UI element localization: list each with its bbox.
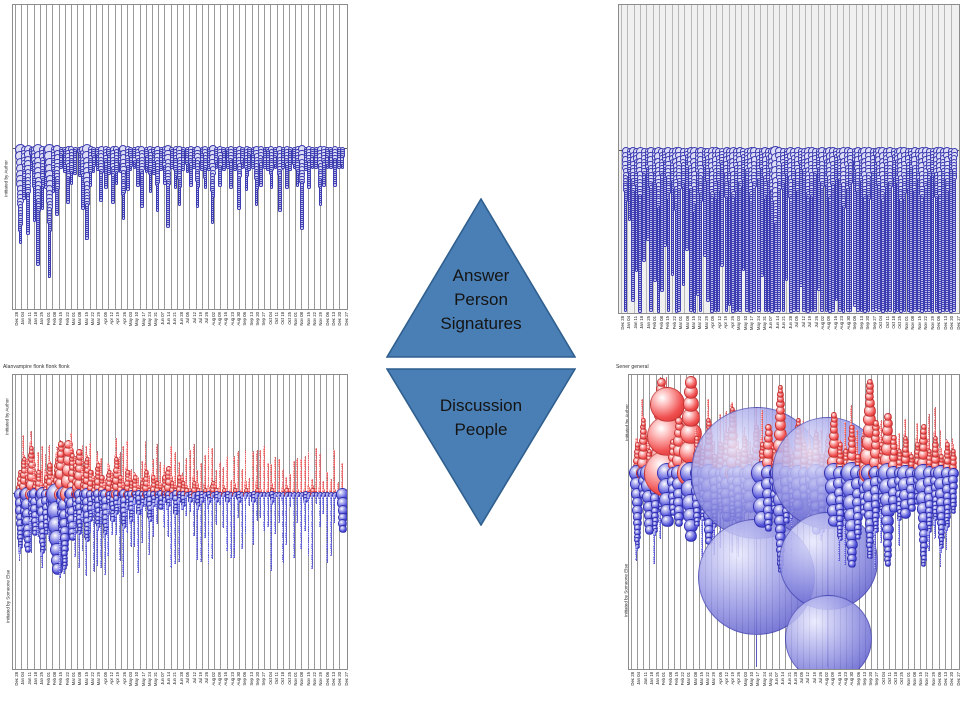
plot-area-top-left[interactable]: [12, 4, 348, 310]
x-tick-label: Feb 15: [59, 312, 64, 325]
x-tick-label: Sep 13: [250, 312, 255, 326]
data-bubble: [99, 198, 103, 202]
data-bubble: [222, 168, 226, 172]
data-bubble: [66, 200, 70, 204]
x-tick-label: Feb 08: [53, 312, 58, 325]
data-bubble: [631, 298, 635, 302]
data-bubble: [115, 181, 119, 185]
data-bubble: [300, 226, 304, 230]
x-tick-label: Apr 05: [104, 312, 109, 325]
data-bubble: [237, 206, 241, 210]
data-bubble: [671, 272, 675, 276]
data-bubble: [638, 309, 642, 313]
data-bubble: [104, 185, 108, 189]
data-bubble: [245, 187, 249, 191]
x-tick-label: Mar 29: [97, 312, 102, 325]
data-bubble: [140, 204, 144, 208]
data-bubble: [259, 183, 263, 187]
x-tick-label: Sep 06: [243, 312, 248, 326]
x-tick-label: Jul 12: [193, 312, 198, 323]
data-bubble: [89, 183, 93, 187]
data-bubble: [319, 202, 323, 206]
data-bubble: [156, 208, 160, 212]
x-tick-label: May 17: [142, 312, 147, 326]
data-bubble: [693, 309, 697, 313]
data-bubble: [785, 277, 789, 281]
x-tick-label: Dec 20: [338, 312, 343, 326]
data-bubble: [255, 202, 259, 206]
x-tick-label: Mar 22: [91, 312, 96, 325]
x-tick-label: Oct 25: [288, 312, 293, 325]
data-bubble: [270, 185, 274, 189]
data-bubble: [285, 185, 289, 189]
x-tick-label: Jun 21: [173, 312, 178, 325]
x-tick-label: Dec 27: [345, 312, 350, 326]
x-tick-label: Feb 01: [47, 312, 52, 325]
x-tick-label: Jan 11: [28, 312, 33, 325]
x-tick-label: May 03: [129, 312, 134, 326]
data-bubble: [322, 183, 326, 187]
x-tick-label: Aug 09: [218, 312, 223, 326]
data-bubble: [149, 189, 153, 193]
x-tick-label: Feb 22: [66, 312, 71, 325]
x-tick-label: May 10: [135, 312, 140, 326]
data-bubble: [782, 308, 786, 312]
x-tick-label: Jun 07: [161, 312, 166, 325]
x-tick-label: May 31: [154, 312, 159, 326]
data-bubble: [667, 308, 671, 312]
data-bubble: [706, 298, 710, 302]
x-tick-label: Dec 28: [15, 312, 20, 326]
x-tick-label: Dec 06: [326, 312, 331, 326]
x-tick-label: Nov 15: [307, 312, 312, 326]
x-tick-label: Nov 29: [319, 312, 324, 326]
data-bubble: [660, 288, 664, 292]
data-bubble: [757, 308, 761, 312]
x-tick-label: Sep 27: [262, 312, 267, 326]
x-tick-label: Nov 22: [313, 312, 318, 326]
x-tick-label: Jan 04: [21, 312, 26, 325]
data-bubble: [111, 200, 115, 204]
x-tick-label: Apr 26: [123, 312, 128, 325]
x-tick-label: Aug 16: [224, 312, 229, 326]
data-bubble: [296, 183, 300, 187]
x-tick-label: Jan 18: [34, 312, 39, 325]
data-bubble: [682, 282, 686, 286]
data-bubble: [55, 212, 59, 216]
x-tick-label: Oct 18: [281, 312, 286, 325]
data-bubble: [174, 185, 178, 189]
x-tick-label: Jan 25: [40, 312, 45, 325]
data-bubble: [211, 220, 215, 224]
data-bubble: [41, 206, 45, 210]
data-bubble: [725, 308, 729, 312]
data-bubble: [278, 208, 282, 212]
x-tick-label: Jul 19: [199, 312, 204, 323]
data-bubble: [19, 240, 23, 244]
data-bubble: [333, 183, 337, 187]
x-tick-label: Oct 04: [269, 312, 274, 325]
data-bubble: [777, 308, 781, 312]
x-tick-label: Mar 08: [78, 312, 83, 325]
data-bubble: [178, 202, 182, 206]
x-tick-label: Mar 15: [85, 312, 90, 325]
x-tick-label: Nov 08: [300, 312, 305, 326]
data-bubble: [657, 309, 661, 313]
x-tick-label: Jul 26: [205, 312, 210, 323]
x-tick-label: Aug 30: [237, 312, 242, 326]
data-bubble: [204, 185, 208, 189]
data-bubble: [85, 236, 89, 240]
x-tick-label: Jul 05: [186, 312, 191, 323]
data-bubble: [70, 181, 74, 185]
x-tick-label: Aug 02: [212, 312, 217, 326]
data-bubble: [738, 308, 742, 312]
data-bubble: [752, 308, 756, 312]
x-tick-label: Nov 01: [294, 312, 299, 326]
x-tick-label: Mar 01: [72, 312, 77, 325]
data-bubble: [218, 183, 222, 187]
data-bubble: [107, 172, 111, 176]
data-bubble: [642, 258, 646, 262]
data-bubble: [720, 263, 724, 267]
data-bubble: [166, 224, 170, 228]
data-bubble: [189, 183, 193, 187]
x-tick-label: Dec 13: [332, 312, 337, 326]
data-bubble: [26, 231, 30, 235]
data-bubble: [307, 185, 311, 189]
figure-canvas: Initiated by Author Dec 28Jan 04Jan 11Ja…: [0, 0, 960, 720]
x-tick-label: Oct 11: [275, 312, 280, 324]
x-tick-label: Jun 28: [180, 312, 185, 325]
data-bubble: [760, 273, 764, 277]
data-bubble: [229, 185, 233, 189]
data-bubble: [122, 216, 126, 220]
panel-top-left: Initiated by Author Dec 28Jan 04Jan 11Ja…: [0, 0, 350, 360]
x-tick-label: Apr 12: [110, 312, 115, 325]
plot-area-top-right[interactable]: [618, 4, 960, 314]
data-bubble: [196, 204, 200, 208]
x-tick-label: Apr 19: [116, 312, 121, 325]
y-axis-label-top-left-author: Initiated by Author: [4, 157, 9, 201]
data-bubble: [649, 308, 653, 312]
x-tick-label: Sep 20: [256, 312, 261, 326]
data-bubble: [677, 308, 681, 312]
data-bubble: [126, 187, 130, 191]
panel-top-right: Dec 28Jan 04Jan 11Jan 18Jan 25Feb 01Feb …: [610, 0, 960, 360]
x-tick-label: Aug 23: [231, 312, 236, 326]
